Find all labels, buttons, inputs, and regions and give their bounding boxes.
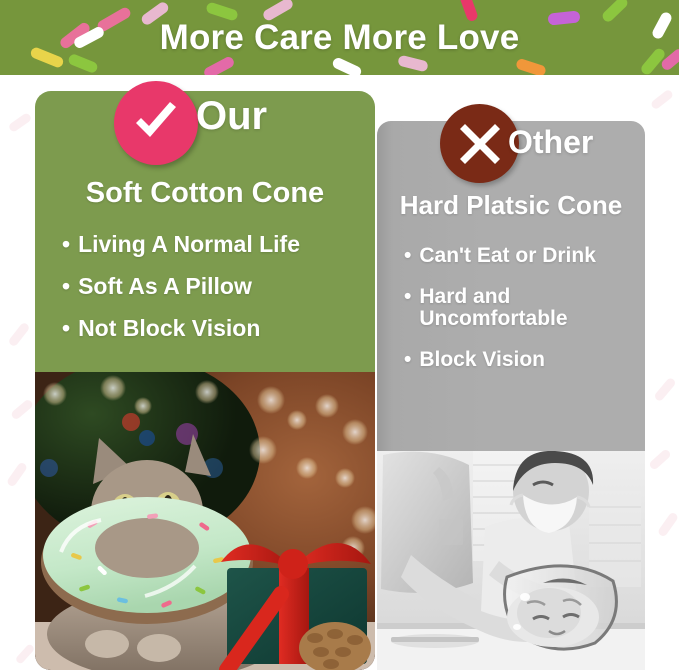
list-item-label: Can't Eat or Drink <box>419 245 596 268</box>
other-heading: Other <box>508 126 593 158</box>
our-bullet-list: • Living A Normal Life • Soft As A Pillo… <box>62 232 362 357</box>
bullet-dot: • <box>404 245 411 267</box>
bullet-dot: • <box>62 232 70 256</box>
infographic-root: More Care More Love Our Soft Cotton Cone… <box>0 0 679 671</box>
list-item-label: Not Block Vision <box>78 316 260 341</box>
bullet-dot: • <box>404 286 411 308</box>
other-subheading: Hard Platsic Cone <box>377 190 645 221</box>
other-bullet-list: • Can't Eat or Drink • Hard and Uncomfor… <box>404 245 639 390</box>
bullet-dot: • <box>404 349 411 371</box>
header-banner: More Care More Love <box>0 0 679 75</box>
check-icon <box>114 81 198 165</box>
our-product-photo <box>35 372 375 670</box>
list-item-label: Soft As A Pillow <box>78 274 252 299</box>
our-subheading: Soft Cotton Cone <box>35 177 375 210</box>
list-item: • Hard and Uncomfortable <box>404 286 639 331</box>
list-item-label: Living A Normal Life <box>78 232 300 257</box>
list-item: • Block Vision <box>404 349 639 372</box>
page-title: More Care More Love <box>0 0 679 75</box>
bullet-dot: • <box>62 274 70 298</box>
list-item: • Not Block Vision <box>62 316 362 341</box>
list-item: • Living A Normal Life <box>62 232 362 257</box>
list-item-label: Block Vision <box>419 349 545 372</box>
other-product-photo <box>377 451 645 670</box>
list-item-label: Hard and Uncomfortable <box>419 286 639 331</box>
bullet-dot: • <box>62 316 70 340</box>
our-heading: Our <box>196 96 267 136</box>
list-item: • Soft As A Pillow <box>62 274 362 299</box>
list-item: • Can't Eat or Drink <box>404 245 639 268</box>
